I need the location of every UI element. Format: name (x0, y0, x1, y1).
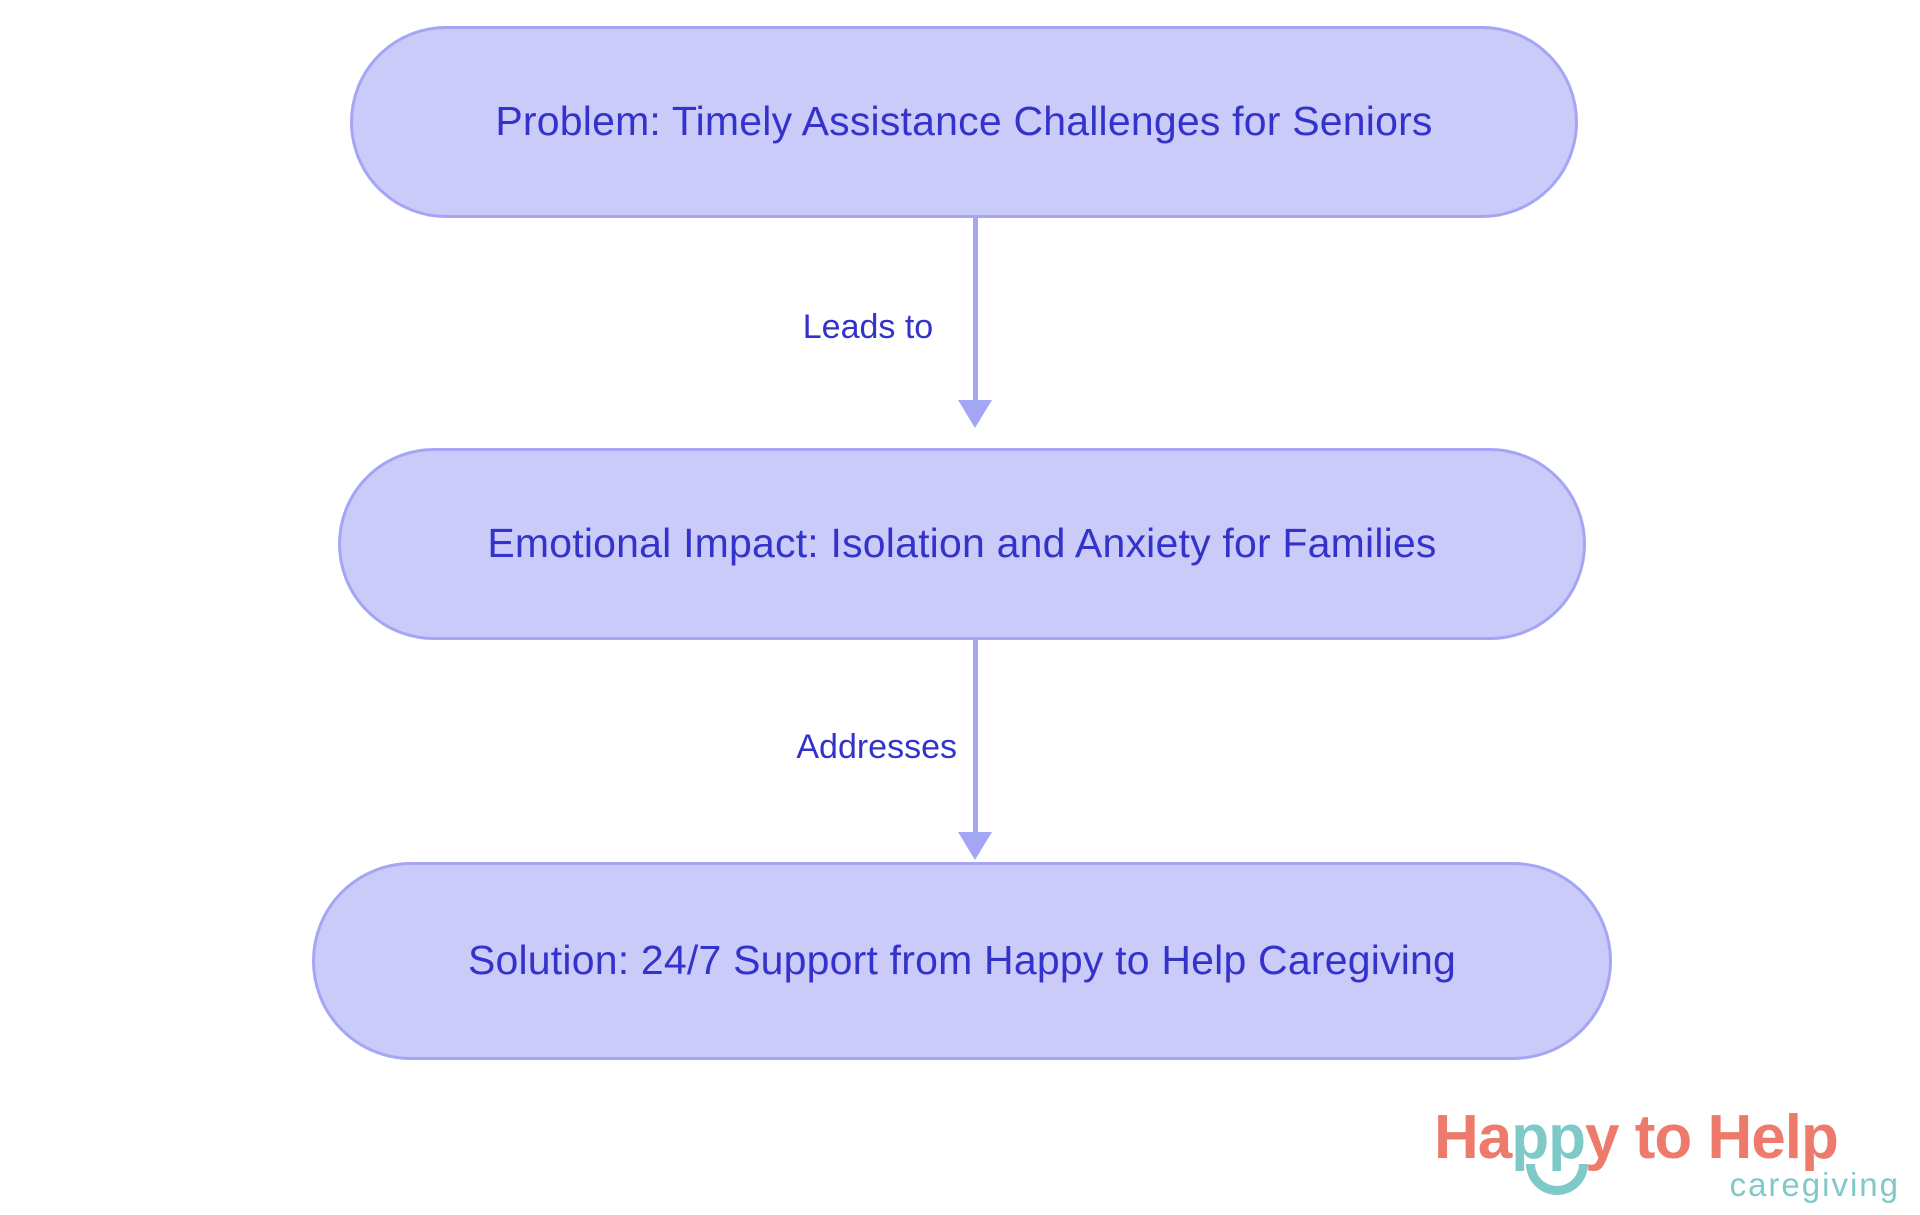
arrowhead-icon-impact-to-solution (958, 832, 992, 860)
brand-logo: Happy to Help caregiving (1434, 1102, 1904, 1212)
flow-node-solution-label: Solution: 24/7 Support from Happy to Hel… (468, 937, 1456, 984)
flow-node-emotional-impact[interactable]: Emotional Impact: Isolation and Anxiety … (338, 448, 1586, 640)
brand-logo-tagline: caregiving (1730, 1166, 1900, 1204)
flow-node-problem[interactable]: Problem: Timely Assistance Challenges fo… (350, 26, 1578, 218)
arrowhead-icon-problem-to-impact (958, 400, 992, 428)
connector-line-impact-to-solution (973, 640, 978, 840)
edge-label-addresses: Addresses (788, 726, 965, 769)
flow-node-solution[interactable]: Solution: 24/7 Support from Happy to Hel… (312, 862, 1612, 1060)
brand-logo-part-3: y to Help (1585, 1103, 1838, 1172)
brand-logo-part-2: pp (1511, 1103, 1585, 1172)
flowchart-canvas: Problem: Timely Assistance Challenges fo… (0, 0, 1920, 1215)
connector-line-problem-to-impact (973, 218, 978, 408)
brand-logo-part-1: Ha (1434, 1103, 1511, 1172)
edge-label-leads-to: Leads to (795, 306, 941, 349)
flow-node-problem-label: Problem: Timely Assistance Challenges fo… (495, 98, 1432, 145)
smile-icon (1526, 1164, 1588, 1195)
brand-logo-wordmark: Happy to Help (1434, 1102, 1838, 1173)
flow-node-emotional-impact-label: Emotional Impact: Isolation and Anxiety … (487, 520, 1436, 567)
